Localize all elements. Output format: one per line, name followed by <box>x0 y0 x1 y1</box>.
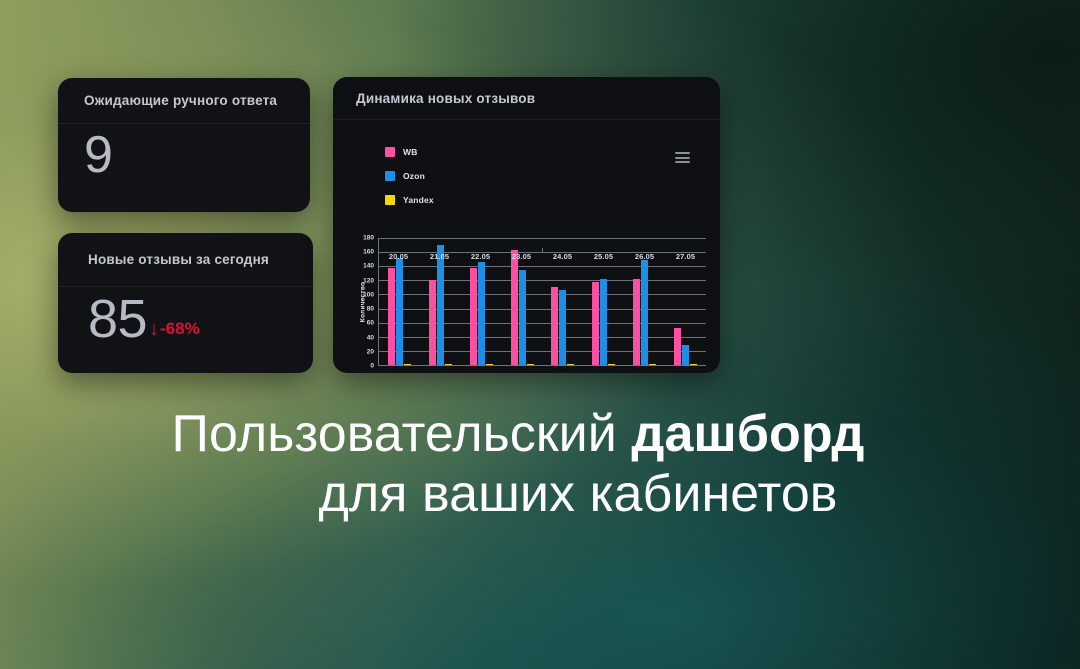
y-tick-label: 60 <box>367 320 374 327</box>
bar-yandex[interactable] <box>649 364 656 365</box>
legend-swatch-icon <box>385 171 395 181</box>
bar-wb[interactable] <box>633 279 640 365</box>
menu-line <box>675 161 690 163</box>
chart-body: WBOzonYandex Количество 1801601401201008… <box>333 120 720 373</box>
chart-title: Динамика новых отзывов <box>356 91 535 106</box>
poster-canvas: Ожидающие ручного ответа 9 Новые отзывы … <box>0 0 1080 669</box>
bar-wb[interactable] <box>674 328 681 365</box>
bar-wb[interactable] <box>592 282 599 365</box>
hamburger-menu-icon[interactable] <box>675 152 690 163</box>
legend-item-yandex[interactable]: Yandex <box>385 195 434 205</box>
bar-yandex[interactable] <box>690 364 697 365</box>
headline-line-1: Пользовательский дашборд <box>0 404 1036 464</box>
y-tick-label: 100 <box>363 291 374 298</box>
bar-wb[interactable] <box>551 287 558 365</box>
kpi-card-header: Новые отзывы за сегодня <box>58 233 313 287</box>
bar-yandex[interactable] <box>445 364 452 365</box>
x-axis-ticks: 20.0521.0522.0523.0524.0525.0526.0527.05 <box>378 252 706 266</box>
chart-card-header: Динамика новых отзывов <box>333 77 720 120</box>
bar-ozon[interactable] <box>600 279 607 365</box>
kpi-delta: ↓ -68% <box>149 319 200 348</box>
y-tick-label: 40 <box>367 334 374 341</box>
bar-ozon[interactable] <box>559 290 566 365</box>
chart-card: Динамика новых отзывов WBOzonYandex Коли… <box>333 77 720 373</box>
arrow-down-icon: ↓ <box>149 319 159 339</box>
headline: Пользовательский дашборд для ваших кабин… <box>0 404 1080 525</box>
kpi-card-title: Ожидающие ручного ответа <box>84 93 277 108</box>
kpi-card-body: 85 ↓ -68% <box>58 287 313 348</box>
bar-ozon[interactable] <box>682 345 689 365</box>
x-tick-label: 27.05 <box>665 252 706 266</box>
headline-text-regular: Пользовательский <box>172 405 632 463</box>
bar-yandex[interactable] <box>486 364 493 365</box>
y-tick-label: 180 <box>363 235 374 242</box>
kpi-card-header: Ожидающие ручного ответа <box>58 78 310 124</box>
bar-ozon[interactable] <box>519 270 526 365</box>
kpi-value: 9 <box>84 128 284 183</box>
bar-yandex[interactable] <box>608 364 615 365</box>
legend-swatch-icon <box>385 147 395 157</box>
y-tick-label: 160 <box>363 249 374 256</box>
x-tick-label: 21.05 <box>419 252 460 266</box>
bar-wb[interactable] <box>429 280 436 365</box>
y-axis-ticks: 180160140120100806040200 <box>352 238 374 366</box>
x-tick-label: 25.05 <box>583 252 624 266</box>
bar-ozon[interactable] <box>641 260 648 365</box>
bar-ozon[interactable] <box>478 262 485 365</box>
y-tick-label: 80 <box>367 306 374 313</box>
legend-item-ozon[interactable]: Ozon <box>385 171 434 181</box>
bar-ozon[interactable] <box>396 258 403 365</box>
headline-line-2: для ваших кабинетов <box>0 464 1036 524</box>
menu-line <box>675 157 690 159</box>
chart-legend: WBOzonYandex <box>385 147 434 205</box>
headline-text-bold: дашборд <box>631 405 864 463</box>
y-tick-label: 0 <box>370 363 374 370</box>
kpi-card-new-reviews: Новые отзывы за сегодня 85 ↓ -68% <box>58 233 313 373</box>
x-tick-mark <box>542 248 543 252</box>
legend-swatch-icon <box>385 195 395 205</box>
x-tick-label: 20.05 <box>378 252 419 266</box>
kpi-delta-value: -68% <box>160 319 200 339</box>
bar-wb[interactable] <box>511 250 518 365</box>
x-tick-label: 24.05 <box>542 252 583 266</box>
bar-yandex[interactable] <box>404 364 411 365</box>
y-tick-label: 120 <box>363 277 374 284</box>
kpi-card-title: Новые отзывы за сегодня <box>88 252 269 267</box>
kpi-card-pending: Ожидающие ручного ответа 9 <box>58 78 310 212</box>
legend-item-wb[interactable]: WB <box>385 147 434 157</box>
legend-label: WB <box>403 147 418 157</box>
bar-yandex[interactable] <box>527 364 534 365</box>
menu-line <box>675 152 690 154</box>
x-tick-label: 26.05 <box>624 252 665 266</box>
bar-wb[interactable] <box>388 268 395 365</box>
y-tick-label: 20 <box>367 348 374 355</box>
bar-wb[interactable] <box>470 268 477 365</box>
legend-label: Ozon <box>403 171 425 181</box>
kpi-value: 85 <box>88 291 147 348</box>
legend-label: Yandex <box>403 195 434 205</box>
x-tick-label: 22.05 <box>460 252 501 266</box>
y-tick-label: 140 <box>363 263 374 270</box>
bar-yandex[interactable] <box>567 364 574 365</box>
kpi-card-body: 9 <box>58 124 310 183</box>
x-tick-label: 23.05 <box>501 252 542 266</box>
